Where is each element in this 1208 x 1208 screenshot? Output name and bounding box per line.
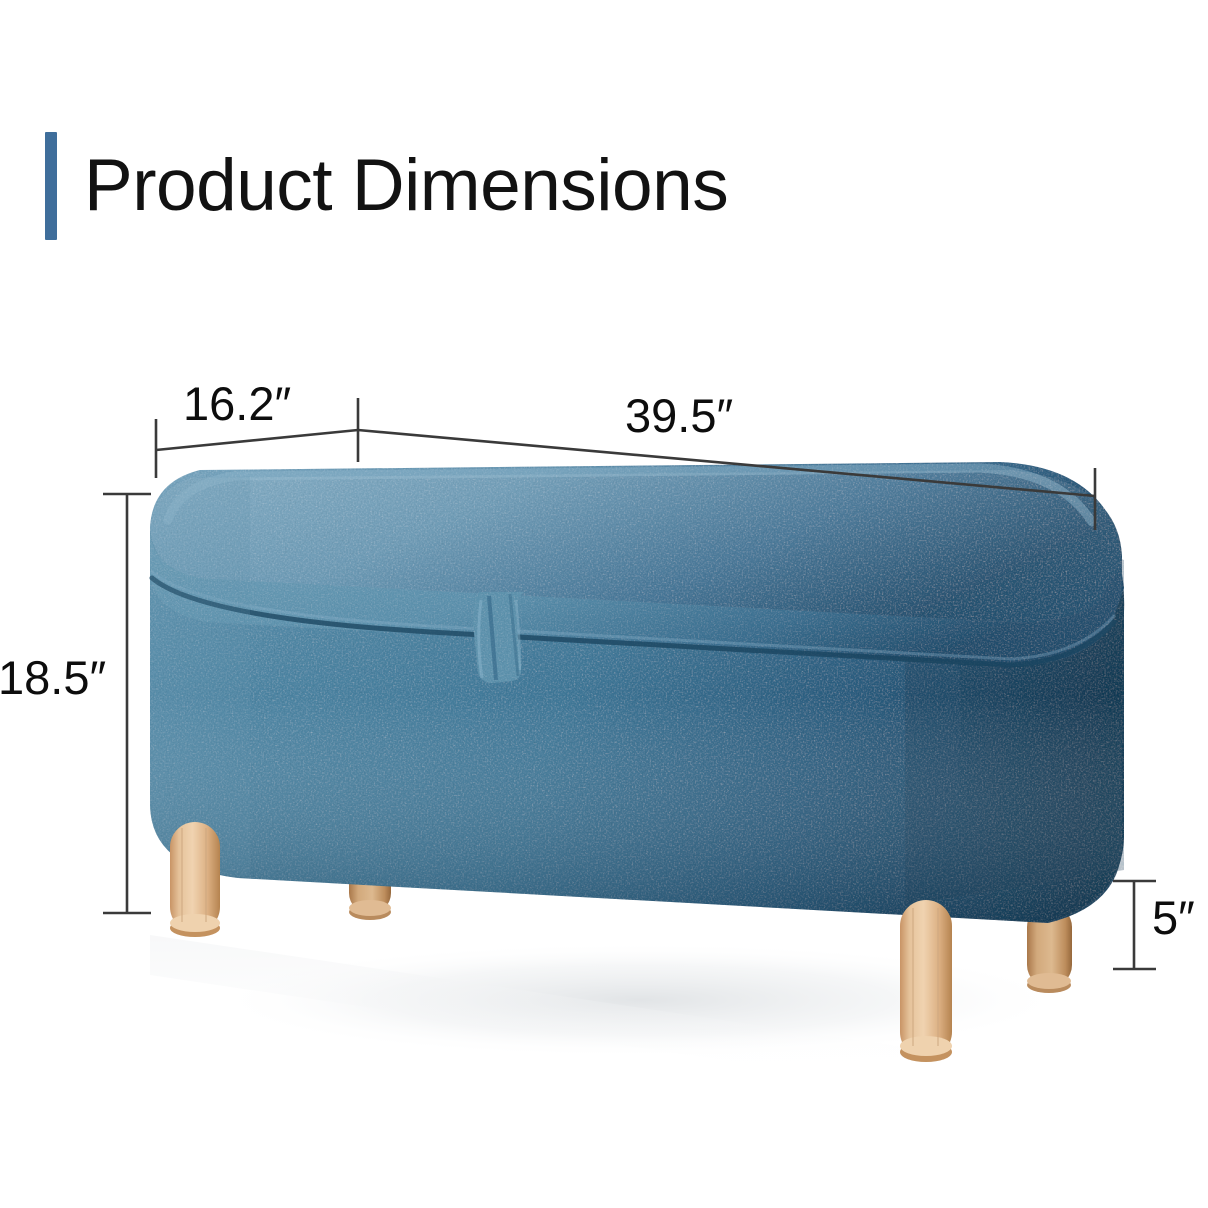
product-illustration [0,0,1208,1208]
body-shading [150,470,1122,923]
dimension-label-depth: 16.2″ [183,376,291,431]
pull-tab [473,592,524,683]
dimension-label-leg-height: 5″ [1152,890,1195,945]
dimension-height [103,494,151,913]
leg-front-right [900,900,952,1062]
product-dimensions-page: Product Dimensions [0,0,1208,1208]
dimension-label-width: 39.5″ [625,388,733,443]
leg-front-left [170,822,220,937]
bench-body [150,462,1124,923]
body-left-round [150,476,250,876]
dimension-leg-height [1113,881,1156,969]
dimension-label-height: 18.5″ [0,650,106,705]
